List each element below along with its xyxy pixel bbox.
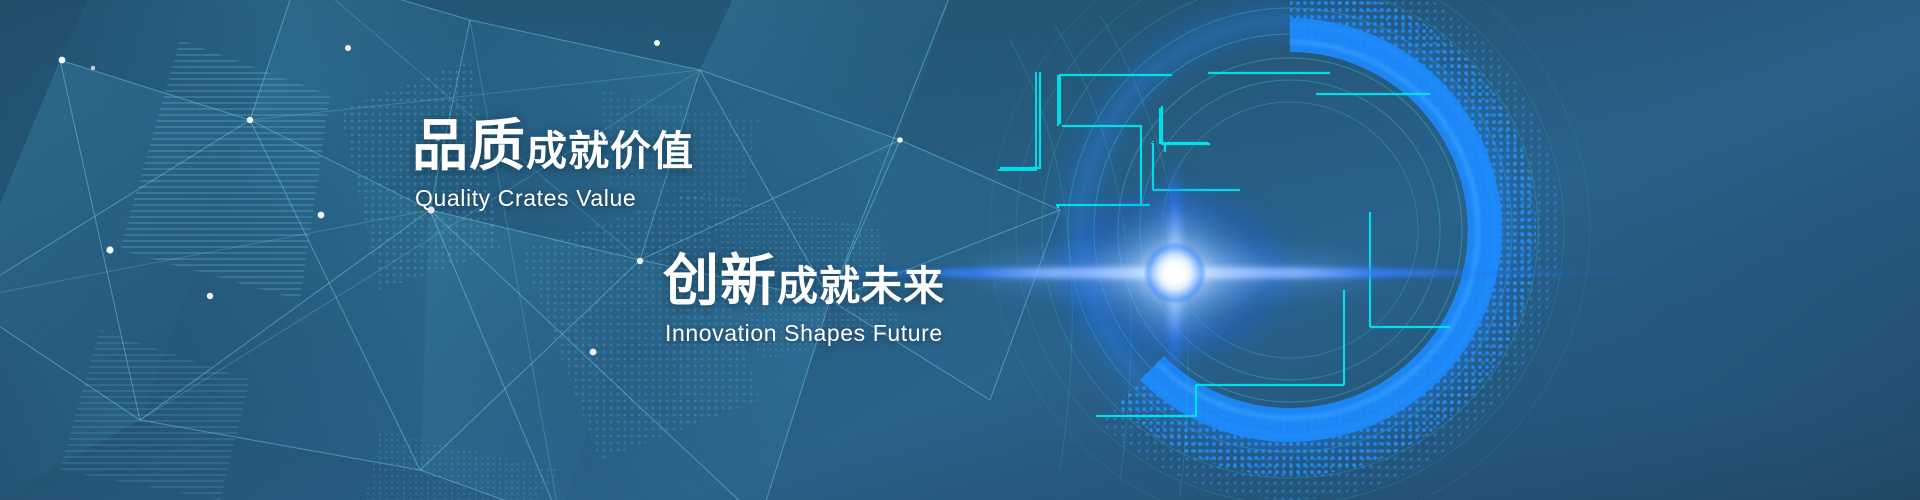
slogan-quality-cn-rest: 成就价值 (526, 131, 694, 172)
slogan-innovation-cn-rest: 成就未来 (777, 266, 945, 307)
tech-ring-graphic (0, 0, 1920, 500)
hero-banner: 品质 成就价值 Quality Crates Value 创新 成就未来 Inn… (0, 0, 1920, 500)
slogan-innovation-chinese: 创新 成就未来 (663, 253, 945, 309)
slogan-innovation-cn-bold: 创新 (663, 253, 777, 309)
slogan-quality-english: Quality Crates Value (415, 185, 694, 212)
slogan-quality-cn-bold: 品质 (412, 118, 526, 174)
slogan-innovation: 创新 成就未来 Innovation Shapes Future (663, 253, 945, 347)
low-poly-network-graphic (0, 0, 1920, 500)
slogan-quality: 品质 成就价值 Quality Crates Value (412, 118, 694, 212)
slogan-quality-chinese: 品质 成就价值 (412, 118, 694, 174)
slogan-innovation-english: Innovation Shapes Future (665, 320, 945, 347)
